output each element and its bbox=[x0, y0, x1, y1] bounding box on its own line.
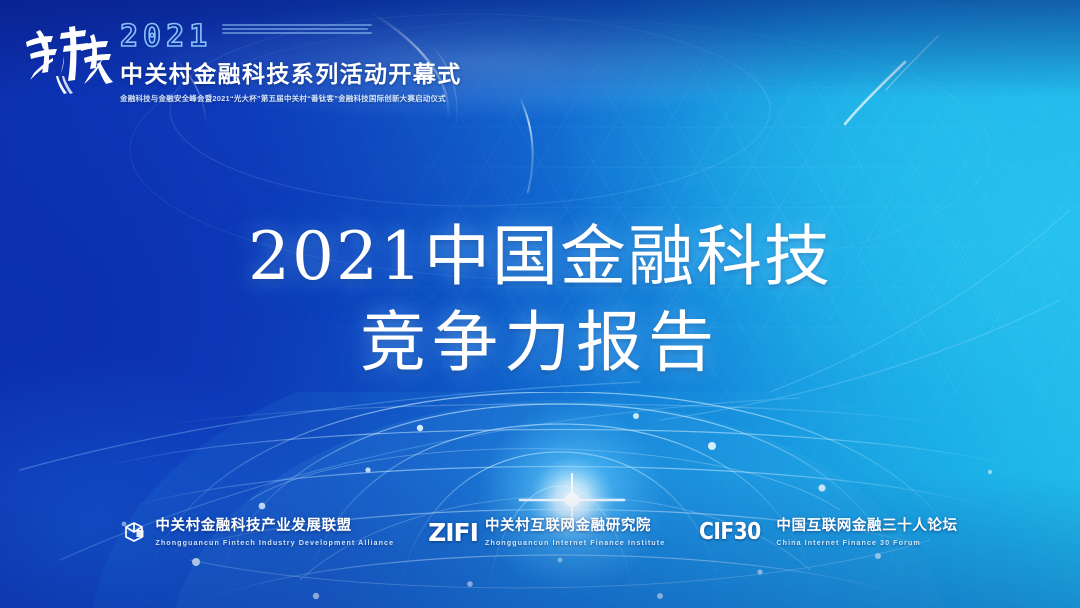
header-event-title: 中关村金融科技系列活动开幕式 bbox=[120, 55, 462, 89]
organizer-logo-strip: 中关村金融科技产业发展联盟 Zhongguancun Fintech Indus… bbox=[0, 518, 1080, 547]
header-micro-english-text bbox=[222, 24, 372, 37]
logo-name-en: China Internet Finance 30 Forum bbox=[776, 538, 957, 547]
cif30-wordmark: CIF30 bbox=[699, 521, 761, 544]
title-line-1: 2021中国金融科技 bbox=[0, 214, 1080, 300]
zifi-wordmark: ZIFI bbox=[428, 520, 478, 545]
header-year: 2021 bbox=[120, 22, 212, 52]
logo-zgc-fintech-alliance: 中关村金融科技产业发展联盟 Zhongguancun Fintech Indus… bbox=[122, 518, 394, 547]
logo-zgc-internet-finance-institute: ZIFI 中关村互联网金融研究院 Zhongguancun Internet F… bbox=[428, 518, 665, 547]
logo-name-cn: 中国互联网金融三十人论坛 bbox=[776, 518, 957, 535]
event-header-banner: 2021 中关村金融科技系列活动开幕式 金融科技与金融安全峰会暨2021“光大杯… bbox=[0, 0, 1080, 118]
keji-calligraphy-logo bbox=[20, 16, 116, 94]
logo-china-internet-finance-30-forum: CIF30 中国互联网金融三十人论坛 China Internet Financ… bbox=[699, 518, 957, 547]
main-title: 2021中国金融科技 竞争力报告 bbox=[0, 214, 1080, 386]
title-line-2: 竞争力报告 bbox=[0, 300, 1080, 386]
logo-name-cn: 中关村金融科技产业发展联盟 bbox=[155, 518, 394, 535]
logo-name-cn: 中关村互联网金融研究院 bbox=[485, 518, 665, 535]
header-event-subtitle: 金融科技与金融安全峰会暨2021“光大杯”第五届中关村“番钛客”金融科技国际创新… bbox=[120, 93, 462, 104]
poster-slide: 2021 中关村金融科技系列活动开幕式 金融科技与金融安全峰会暨2021“光大杯… bbox=[0, 0, 1080, 608]
logo-name-en: Zhongguancun Internet Finance Institute bbox=[485, 538, 665, 547]
logo-name-en: Zhongguancun Fintech Industry Developmen… bbox=[155, 538, 394, 547]
cube-logo-icon bbox=[122, 519, 148, 545]
